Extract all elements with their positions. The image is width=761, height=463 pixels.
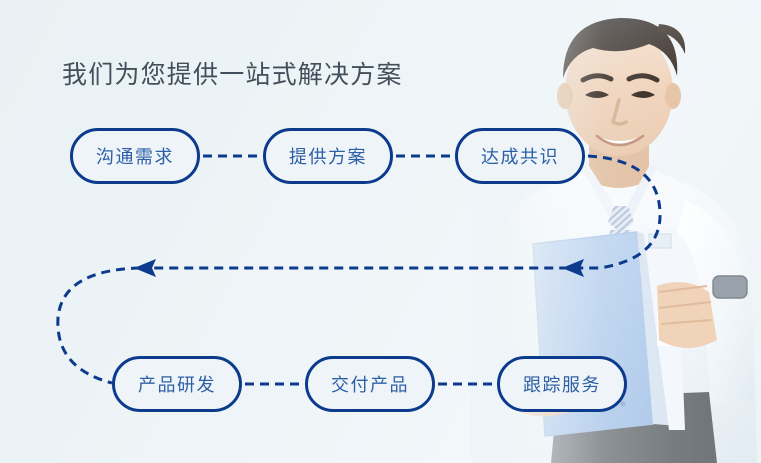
flow-node-label: 跟踪服务 bbox=[523, 371, 601, 397]
flow-node-label: 达成共识 bbox=[481, 143, 559, 169]
flow-node-step-1[interactable]: 沟通需求 bbox=[70, 128, 200, 184]
flow-node-step-6[interactable]: 跟踪服务 bbox=[497, 356, 627, 412]
flow-node-step-4[interactable]: 产品研发 bbox=[112, 356, 242, 412]
flow-node-step-3[interactable]: 达成共识 bbox=[455, 128, 585, 184]
flow-node-step-2[interactable]: 提供方案 bbox=[263, 128, 393, 184]
flow-node-label: 产品研发 bbox=[138, 371, 216, 397]
flow-node-step-5[interactable]: 交付产品 bbox=[305, 356, 435, 412]
banner-stage: 我们为您提供一站式解决方案 沟通需求 提供方案 达成共识 产品研发 交付产品 跟… bbox=[0, 0, 761, 463]
flow-node-label: 交付产品 bbox=[331, 371, 409, 397]
arrowhead-left-mid bbox=[134, 259, 156, 277]
flow-node-label: 提供方案 bbox=[289, 143, 367, 169]
flow-node-label: 沟通需求 bbox=[96, 143, 174, 169]
connector-3-4-upper bbox=[140, 156, 660, 268]
